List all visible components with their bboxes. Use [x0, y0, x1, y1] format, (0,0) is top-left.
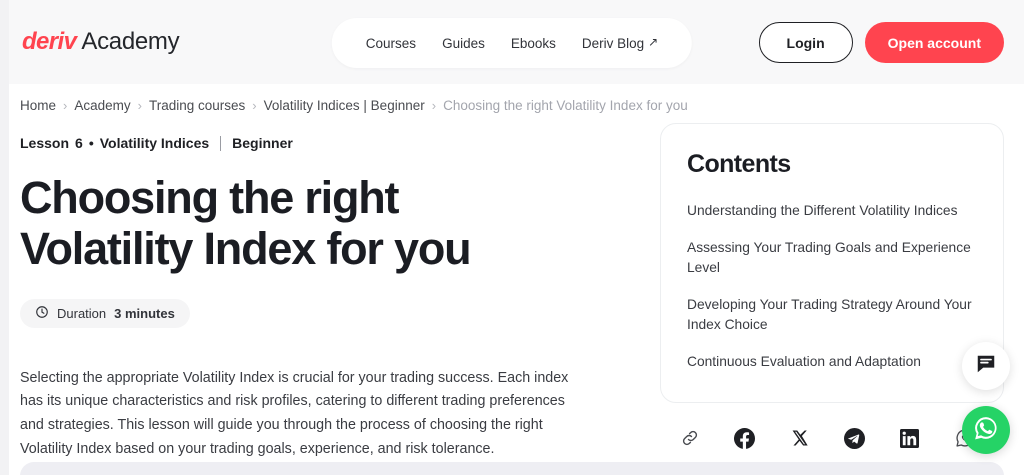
whatsapp-icon — [973, 415, 999, 446]
page-title: Choosing the right Volatility Index for … — [20, 173, 540, 275]
share-row — [660, 427, 1004, 449]
brand-logo-academy: Academy — [81, 28, 179, 56]
contents-card: Contents Understanding the Different Vol… — [660, 123, 1004, 403]
nav-item-guides[interactable]: Guides — [442, 36, 485, 51]
next-section-card-peek — [20, 462, 1004, 475]
duration-badge: Duration 3 minutes — [20, 299, 190, 328]
breadcrumb-item-academy[interactable]: Academy — [74, 98, 130, 113]
lesson-intro-paragraph: Selecting the appropriate Volatility Ind… — [20, 367, 590, 462]
breadcrumb: Home › Academy › Trading courses › Volat… — [0, 84, 1024, 113]
brand-logo[interactable]: derivAcademy — [22, 28, 179, 56]
nav-item-ebooks[interactable]: Ebooks — [511, 36, 556, 51]
duration-value: 3 minutes — [114, 306, 175, 321]
nav-item-courses-label: Courses — [366, 36, 416, 51]
clock-icon — [35, 305, 49, 322]
nav-item-deriv-blog[interactable]: Deriv Blog ↗ — [582, 36, 658, 51]
nav-item-courses[interactable]: Courses — [366, 36, 416, 51]
breadcrumb-item-home[interactable]: Home — [20, 98, 56, 113]
lesson-column: Lesson 6 • Volatility Indices Beginner C… — [20, 113, 620, 462]
lesson-meta: Lesson 6 • Volatility Indices Beginner — [20, 135, 620, 151]
primary-nav: Courses Guides Ebooks Deriv Blog ↗ — [332, 18, 692, 68]
toc-item-1[interactable]: Understanding the Different Volatility I… — [687, 201, 977, 221]
viewport-edge-strip — [0, 0, 9, 475]
whatsapp-float-button[interactable] — [962, 406, 1010, 454]
breadcrumb-separator-icon: › — [252, 98, 256, 113]
breadcrumb-separator-icon: › — [63, 98, 67, 113]
live-chat-button[interactable] — [962, 342, 1010, 390]
site-header: derivAcademy Courses Guides Ebooks Deriv… — [0, 0, 1024, 84]
toc-item-2[interactable]: Assessing Your Trading Goals and Experie… — [687, 238, 977, 278]
login-button[interactable]: Login — [759, 22, 853, 63]
main-content: Lesson 6 • Volatility Indices Beginner C… — [0, 113, 1024, 462]
lesson-meta-number: 6 — [75, 135, 83, 151]
breadcrumb-item-trading-courses[interactable]: Trading courses — [149, 98, 245, 113]
toc-item-4[interactable]: Continuous Evaluation and Adaptation — [687, 352, 977, 372]
linkedin-icon[interactable] — [899, 427, 921, 449]
nav-item-deriv-blog-label: Deriv Blog — [582, 36, 644, 51]
contents-title: Contents — [687, 150, 977, 179]
lesson-meta-course: Volatility Indices — [100, 135, 209, 151]
copy-link-icon[interactable] — [679, 427, 701, 449]
lesson-meta-dot: • — [89, 135, 94, 151]
lesson-meta-level: Beginner — [232, 135, 293, 151]
breadcrumb-item-volatility-indices-beginner[interactable]: Volatility Indices | Beginner — [264, 98, 425, 113]
lesson-meta-prefix: Lesson — [20, 135, 69, 151]
open-account-button[interactable]: Open account — [865, 22, 1004, 63]
duration-label: Duration — [57, 306, 106, 321]
page-root: derivAcademy Courses Guides Ebooks Deriv… — [0, 0, 1024, 475]
nav-item-ebooks-label: Ebooks — [511, 36, 556, 51]
facebook-icon[interactable] — [734, 427, 756, 449]
x-twitter-icon[interactable] — [789, 427, 811, 449]
breadcrumb-separator-icon: › — [138, 98, 142, 113]
header-actions: Login Open account — [759, 22, 1004, 63]
breadcrumb-item-current: Choosing the right Volatility Index for … — [443, 98, 688, 113]
telegram-icon[interactable] — [844, 427, 866, 449]
brand-logo-deriv: deriv — [22, 28, 76, 56]
chat-bubble-icon — [975, 353, 997, 380]
sidebar-column: Contents Understanding the Different Vol… — [660, 113, 1004, 462]
lesson-meta-divider — [220, 136, 221, 151]
external-link-arrow-icon: ↗ — [648, 36, 658, 48]
toc-item-3[interactable]: Developing Your Trading Strategy Around … — [687, 295, 977, 335]
nav-item-guides-label: Guides — [442, 36, 485, 51]
breadcrumb-separator-icon: › — [432, 98, 436, 113]
